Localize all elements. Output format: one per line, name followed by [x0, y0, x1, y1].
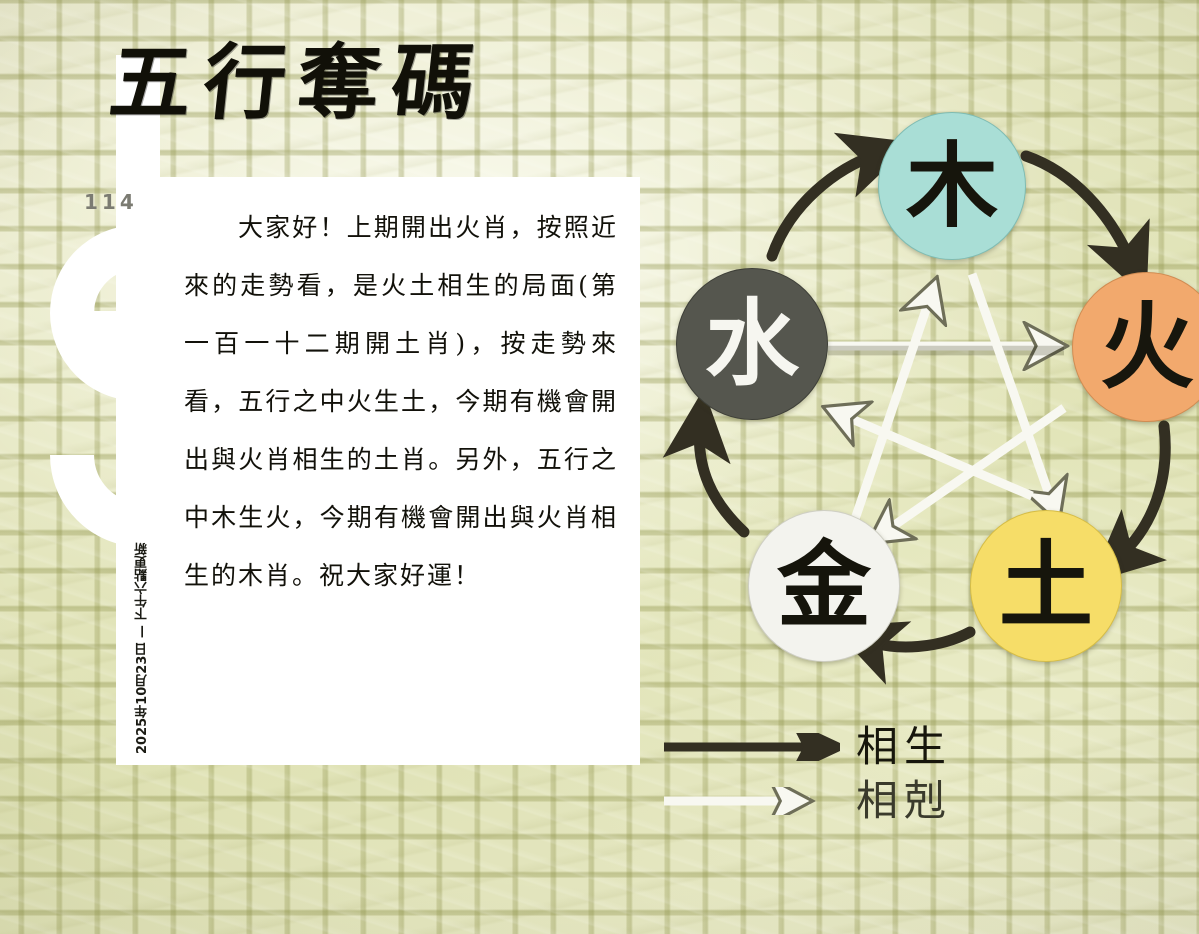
legend-row-overcoming: 相剋: [660, 780, 952, 822]
element-label-water: 水: [705, 297, 799, 391]
element-node-metal[interactable]: 金: [748, 510, 900, 662]
element-label-fire: 火: [1100, 300, 1194, 394]
issue-number: 114: [84, 190, 138, 214]
element-node-wood[interactable]: 木: [878, 112, 1026, 260]
legend-label-generating: 相生: [856, 726, 952, 768]
legend-label-overcoming: 相剋: [856, 780, 952, 822]
article-panel: 大家好！上期開出火肖，按照近來的走勢看，是火土相生的局面(第一百一十二期開土肖)…: [158, 177, 640, 765]
element-node-water[interactable]: 水: [676, 268, 828, 420]
arrow-sheng-water-wood: [772, 154, 878, 256]
poster-canvas: 五行奪碼 114 2025年10月23日 — 下午六點更新 大家好！上期開出火肖…: [0, 0, 1199, 934]
wuxing-diagram: 木 火 水 金 土: [640, 96, 1199, 716]
element-node-earth[interactable]: 土: [970, 510, 1122, 662]
arrow-ke-wood-earth: [972, 274, 1058, 520]
update-timestamp: 2025年10月23日 — 下午六點更新: [131, 522, 155, 754]
arrow-sheng-fire-earth: [1118, 426, 1165, 558]
legend-arrow-dark-icon: [660, 733, 840, 761]
arrow-ke-metal-wood: [852, 280, 936, 528]
element-label-metal: 金: [777, 539, 871, 633]
legend-row-generating: 相生: [660, 726, 952, 768]
article-body: 大家好！上期開出火肖，按照近來的走勢看，是火土相生的局面(第一百一十二期開土肖)…: [158, 177, 640, 615]
element-label-earth: 土: [999, 539, 1093, 633]
arrow-sheng-wood-fire: [1026, 156, 1132, 264]
element-label-wood: 木: [906, 140, 998, 232]
page-title: 五行奪碼: [106, 42, 491, 124]
legend-arrow-white-icon: [660, 787, 840, 815]
arrow-sheng-metal-water: [699, 426, 744, 532]
diagram-legend: 相生 相剋: [660, 722, 980, 842]
